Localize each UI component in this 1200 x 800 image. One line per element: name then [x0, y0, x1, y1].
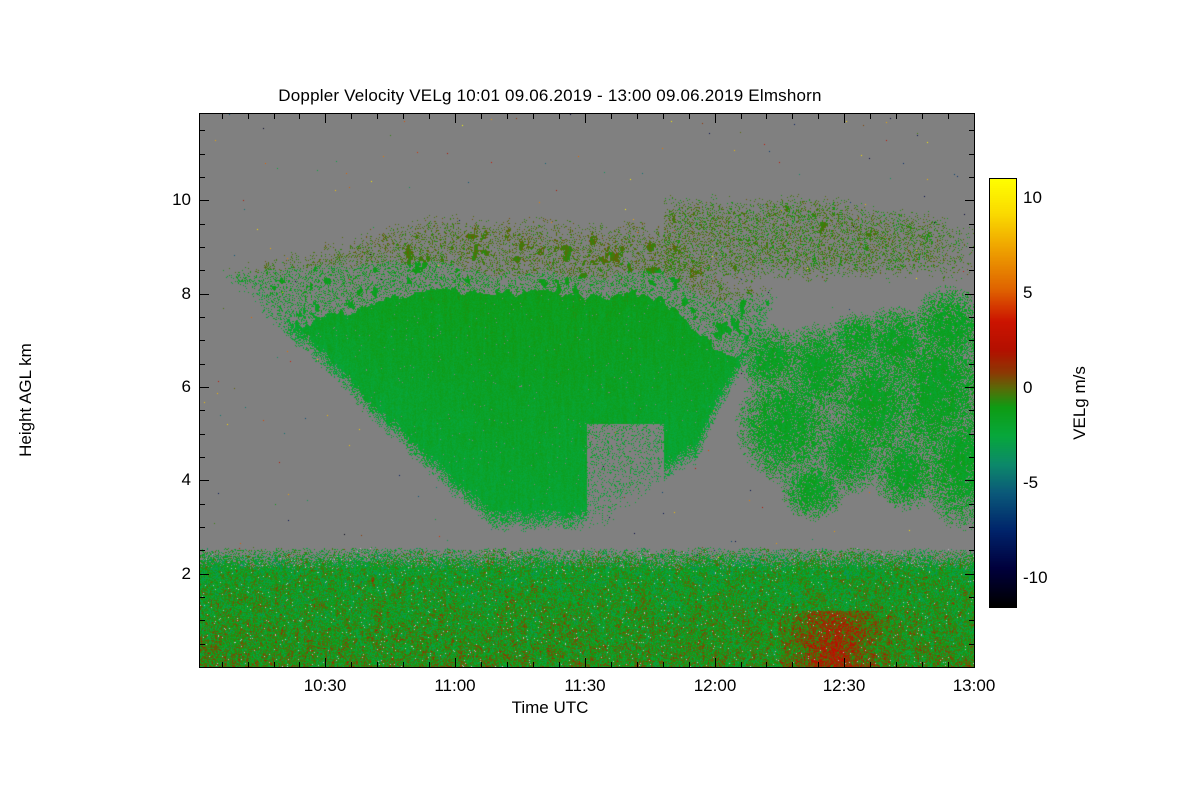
axis-tick	[663, 662, 664, 667]
axis-tick	[299, 662, 300, 667]
axis-tick	[481, 662, 482, 667]
colorbar-tick-label: -10	[1023, 568, 1048, 588]
y-axis-title: Height AGL km	[16, 320, 36, 480]
x-axis-tick-label: 13:00	[953, 676, 996, 696]
colorbar-gradient	[990, 179, 1016, 607]
x-axis-title: Time UTC	[0, 698, 1100, 718]
axis-tick	[922, 662, 923, 667]
axis-tick	[200, 317, 205, 318]
axis-tick	[965, 480, 974, 481]
axis-tick	[689, 114, 690, 119]
axis-tick	[200, 200, 209, 201]
colorbar-tick-label: 10	[1023, 188, 1042, 208]
axis-tick	[969, 644, 974, 645]
axis-tick	[766, 114, 767, 119]
axis-tick	[377, 114, 378, 119]
axis-tick	[200, 130, 205, 131]
axis-tick	[200, 364, 205, 365]
doppler-velocity-heatmap	[200, 114, 974, 667]
axis-tick	[200, 224, 205, 225]
y-axis-tick-label: 10	[157, 190, 191, 210]
axis-tick	[689, 662, 690, 667]
figure: Doppler Velocity VELg 10:01 09.06.2019 -…	[0, 0, 1200, 800]
axis-tick	[922, 114, 923, 119]
axis-tick	[741, 114, 742, 119]
axis-tick	[818, 114, 819, 119]
axis-tick	[969, 224, 974, 225]
axis-tick	[969, 504, 974, 505]
axis-tick	[965, 387, 974, 388]
axis-tick	[559, 662, 560, 667]
x-axis-tick-label: 12:30	[823, 676, 866, 696]
y-axis-tick-label: 8	[157, 284, 191, 304]
axis-tick	[896, 662, 897, 667]
axis-tick	[507, 114, 508, 119]
axis-tick	[969, 620, 974, 621]
axis-tick	[969, 340, 974, 341]
axis-tick	[969, 550, 974, 551]
x-axis-tick-label: 11:00	[434, 676, 475, 696]
axis-tick	[200, 247, 205, 248]
axis-tick	[969, 270, 974, 271]
x-axis-tick-label: 11:30	[564, 676, 605, 696]
axis-tick	[637, 662, 638, 667]
axis-tick	[200, 644, 205, 645]
axis-tick	[200, 574, 209, 575]
axis-tick	[969, 457, 974, 458]
chart-title: Doppler Velocity VELg 10:01 09.06.2019 -…	[0, 86, 1100, 106]
axis-tick	[559, 114, 560, 119]
axis-tick	[663, 114, 664, 119]
axis-tick	[222, 662, 223, 667]
axis-tick	[325, 114, 326, 123]
axis-tick	[351, 114, 352, 119]
axis-tick	[965, 200, 974, 201]
axis-tick	[403, 114, 404, 119]
x-axis-tick-label: 12:00	[694, 676, 737, 696]
axis-tick	[965, 294, 974, 295]
axis-tick	[325, 658, 326, 667]
axis-tick	[507, 662, 508, 667]
axis-tick	[455, 114, 456, 123]
axis-tick	[792, 662, 793, 667]
axis-tick	[766, 662, 767, 667]
axis-tick	[844, 114, 845, 123]
axis-tick	[965, 574, 974, 575]
y-axis-tick-label: 6	[157, 377, 191, 397]
colorbar-title: VELg m/s	[1070, 323, 1090, 483]
axis-tick	[200, 504, 205, 505]
colorbar	[989, 178, 1017, 608]
axis-tick	[274, 662, 275, 667]
axis-tick	[969, 130, 974, 131]
axis-tick	[844, 658, 845, 667]
axis-tick	[948, 662, 949, 667]
axis-tick	[200, 387, 209, 388]
axis-tick	[351, 662, 352, 667]
axis-tick	[200, 340, 205, 341]
axis-tick	[969, 434, 974, 435]
axis-tick	[611, 114, 612, 119]
axis-tick	[533, 114, 534, 119]
axis-tick	[715, 658, 716, 667]
plot-area	[199, 113, 975, 668]
axis-tick	[870, 662, 871, 667]
axis-tick	[948, 114, 949, 119]
y-axis-tick-label: 4	[157, 470, 191, 490]
axis-tick	[818, 662, 819, 667]
axis-tick	[611, 662, 612, 667]
axis-tick	[792, 114, 793, 119]
axis-tick	[896, 114, 897, 119]
axis-tick	[969, 154, 974, 155]
axis-tick	[533, 662, 534, 667]
axis-tick	[715, 114, 716, 123]
axis-tick	[481, 114, 482, 119]
axis-tick	[222, 114, 223, 119]
colorbar-tick-label: 0	[1023, 378, 1032, 398]
axis-tick	[403, 662, 404, 667]
axis-tick	[200, 410, 205, 411]
axis-tick	[429, 114, 430, 119]
axis-tick	[248, 114, 249, 119]
axis-tick	[200, 154, 205, 155]
axis-tick	[200, 434, 205, 435]
axis-tick	[200, 270, 205, 271]
y-axis-tick-label: 2	[157, 564, 191, 584]
axis-tick	[969, 410, 974, 411]
axis-tick	[200, 527, 205, 528]
axis-tick	[200, 177, 205, 178]
axis-tick	[248, 662, 249, 667]
axis-tick	[741, 662, 742, 667]
colorbar-tick-label: 5	[1023, 283, 1032, 303]
axis-tick	[200, 294, 209, 295]
axis-tick	[429, 662, 430, 667]
axis-tick	[200, 620, 205, 621]
axis-tick	[969, 597, 974, 598]
axis-tick	[974, 658, 975, 667]
colorbar-tick-label: -5	[1023, 473, 1038, 493]
axis-tick	[200, 597, 205, 598]
axis-tick	[969, 177, 974, 178]
x-axis-tick-label: 10:30	[304, 676, 347, 696]
axis-tick	[377, 662, 378, 667]
axis-tick	[455, 658, 456, 667]
axis-tick	[200, 550, 205, 551]
axis-tick	[585, 658, 586, 667]
axis-tick	[969, 317, 974, 318]
axis-tick	[969, 247, 974, 248]
axis-tick	[969, 527, 974, 528]
axis-tick	[200, 457, 205, 458]
axis-tick	[974, 114, 975, 123]
axis-tick	[637, 114, 638, 119]
axis-tick	[274, 114, 275, 119]
axis-tick	[870, 114, 871, 119]
axis-tick	[969, 364, 974, 365]
axis-tick	[585, 114, 586, 123]
axis-tick	[299, 114, 300, 119]
axis-tick	[200, 480, 209, 481]
